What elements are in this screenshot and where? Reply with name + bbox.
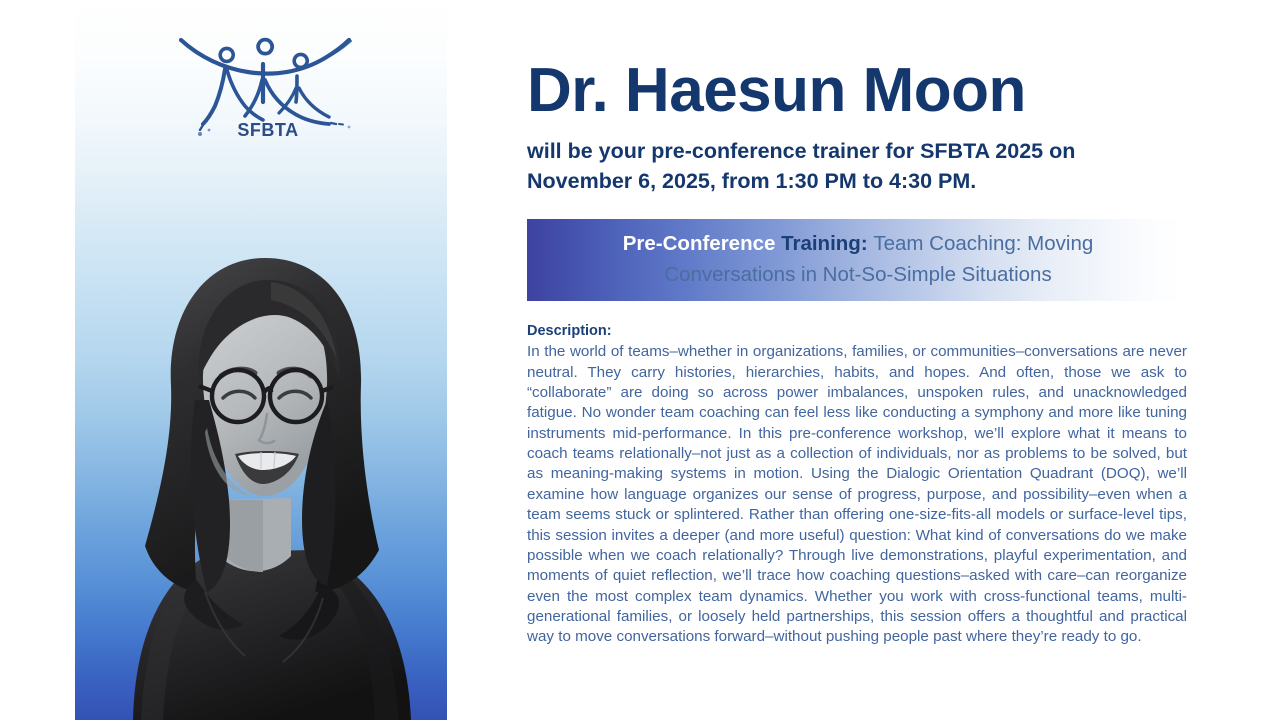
description-body: In the world of teams–whether in organiz… [527, 342, 1187, 647]
portrait-illustration [75, 200, 447, 720]
session-banner-text: Pre-Conference Training: Team Coaching: … [561, 229, 1155, 291]
banner-label-pre-conference: Pre-Conference [623, 232, 781, 255]
subtitle-line-1: will be your pre-conference trainer for … [527, 139, 1075, 163]
left-gradient-panel: SFBTA [75, 0, 447, 720]
subtitle-line-2: November 6, 2025, from 1:30 PM to 4:30 P… [527, 169, 976, 193]
description-label: Description: [527, 321, 1189, 341]
page-title: Dr. Haesun Moon [527, 0, 1189, 125]
main-content: Dr. Haesun Moon will be your pre-confere… [527, 0, 1189, 720]
banner-label-training: Training: [781, 232, 873, 255]
subtitle: will be your pre-conference trainer for … [527, 136, 1189, 197]
sfbta-logo: SFBTA [173, 28, 363, 143]
sfbta-logo-text: SFBTA [173, 120, 363, 141]
session-banner: Pre-Conference Training: Team Coaching: … [527, 219, 1189, 301]
speaker-portrait-photo [75, 200, 447, 720]
